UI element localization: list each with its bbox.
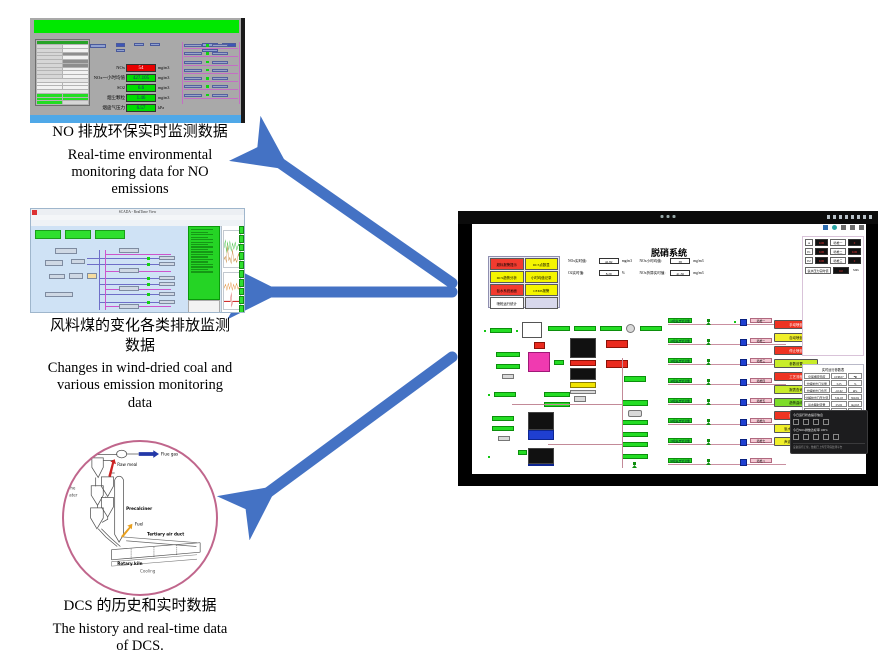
flow-node[interactable] (574, 326, 596, 331)
scada-block (71, 259, 85, 264)
spray-gun-tag[interactable]: 喷枪六 (750, 418, 772, 423)
flow-node[interactable] (518, 450, 527, 455)
strip-button[interactable] (239, 244, 244, 252)
kpi-button[interactable]: 喷枪运行统计 (490, 297, 524, 309)
table-title: 实时运行参数表 (804, 366, 862, 373)
flue-gas-arrow (139, 450, 159, 458)
os-status-bar (458, 211, 878, 224)
fuel-arrow (121, 524, 132, 538)
hmi-footer-bar (30, 115, 241, 123)
param-unit: kPa (848, 387, 862, 393)
readout-value: 38 (670, 258, 690, 264)
caption-zh: NO 排放环保实时监测数据 (25, 124, 255, 142)
tray-icon (845, 215, 849, 219)
kpi-button[interactable]: DCS点数显 (525, 258, 559, 270)
alarm-node[interactable] (606, 360, 628, 368)
panel-row (37, 86, 88, 89)
measurement-value: 1.46 (126, 94, 156, 102)
scada-block (69, 273, 83, 279)
readout-row: O2实时值: 8.29 % NOx折算实时值: 41.36 mg/m3 (568, 270, 708, 276)
caption-zh: DCS 的历史和实时数据 (25, 598, 255, 616)
measurement-label: 烟囱气压力 (92, 104, 125, 114)
caption-dcs-history: DCS 的历史和实时数据 The history and real-time d… (25, 598, 255, 655)
spray-gun-value2: 0 (848, 257, 861, 264)
spray-gun-name: 喷枪一 (830, 239, 846, 246)
spray-gun-value: 0.00 (815, 257, 828, 264)
flow-node[interactable] (548, 326, 570, 331)
param-value: 25.02 (831, 401, 848, 407)
param-value: 3.25 (831, 380, 848, 386)
scada-status-dot (147, 277, 150, 280)
flow-node[interactable] (528, 430, 554, 440)
digital-display (570, 338, 596, 358)
strip-button[interactable] (239, 296, 244, 304)
spray-gun-tag[interactable]: 喷枪八 (750, 458, 772, 463)
status-dot (484, 330, 486, 332)
tank-node (628, 410, 642, 417)
hmi-header-bar (34, 20, 239, 33)
valve-icon[interactable] (706, 359, 711, 365)
flow-node[interactable] (492, 416, 514, 421)
actuator-icon[interactable] (740, 439, 747, 446)
scada-block (119, 286, 139, 291)
kpi-button-grid[interactable]: 超标报警提示 DCS点数显 DCS趋势分析 小时均值记录 氨水系统画面 CEMS… (488, 256, 560, 308)
scada-pipe (105, 254, 171, 255)
scada-green-info-panel (188, 226, 220, 300)
hmi-application-window: 脱硝系统 超标报警提示 DCS点数显 DCS趋势分析 小时均值记录 氨水系统画面… (472, 224, 866, 474)
caption-en-line: Real-time environmental (25, 147, 255, 164)
param-value: -10.02 (831, 387, 848, 393)
kpi-button[interactable]: 超标报警提示 (490, 258, 524, 270)
kiln-label: Flue gas (161, 451, 178, 456)
chart-icon[interactable] (793, 434, 799, 440)
measurement-label: SO2 (92, 84, 125, 94)
actuator-icon[interactable] (740, 319, 747, 326)
spray-gun-key: A (805, 239, 813, 246)
scada-block (45, 260, 63, 266)
globe-icon[interactable] (832, 225, 837, 230)
actuator-icon[interactable] (740, 459, 747, 466)
tray-icon (833, 215, 837, 219)
measurement-value: 427.105 (126, 74, 156, 82)
panel-title-strip (37, 41, 88, 44)
readout-row: NOx实时值: 42.82 mg/m3 NOx小时均值: 38 mg/m3 (568, 258, 708, 264)
caption-en-line: various emission monitoring (25, 377, 255, 394)
kiln-label: Tertiary air duct (147, 532, 184, 537)
table-row: 氨水瞬时流量 25.02 mg/m3 (804, 401, 862, 407)
flow-node[interactable] (496, 364, 520, 369)
readout-value: 42.82 (599, 258, 619, 264)
flow-node[interactable] (492, 426, 514, 431)
mail-icon[interactable] (793, 419, 799, 425)
spray-gun-value2: 0 (848, 239, 861, 246)
flow-node[interactable] (522, 322, 542, 338)
valve-icon[interactable] (706, 419, 711, 425)
panel-row (37, 71, 88, 74)
kiln-label: ater (69, 492, 78, 497)
kpi-button[interactable] (525, 297, 559, 309)
strip-button[interactable] (239, 261, 244, 269)
poster-canvas: NOx NOx一小时均值 SO2 烟尘颗粒 烟囱气压力 54 427.105 6… (0, 0, 886, 664)
scada-status-dot (147, 301, 150, 304)
param-name: 氨水瞬时流量 (804, 401, 830, 407)
valve-icon[interactable] (706, 379, 711, 385)
scada-block (119, 304, 139, 309)
param-name: 分解炉出口负压 (804, 387, 830, 393)
notification-line-2: 今日NOx排放达标率 100% (793, 428, 865, 432)
spray-gun-tag[interactable]: 喷枪四 (750, 378, 772, 383)
measurement-unit: mg/m3 (158, 84, 180, 94)
panel-row (37, 60, 88, 63)
scada-diagram-canvas (31, 226, 188, 313)
kpi-button[interactable]: 小时均值记录 (525, 271, 559, 283)
shield-icon[interactable] (833, 434, 839, 440)
document-icon[interactable] (813, 419, 819, 425)
panel-row (37, 49, 88, 52)
param-name: 分解炉出口压力温度 (804, 394, 830, 400)
kiln-svg: Flue gas Raw meal Precalciner Fuel Terti… (64, 442, 216, 594)
scada-block (45, 292, 73, 297)
hmi-right-edge (242, 18, 245, 123)
panel-row (37, 64, 88, 67)
panel-row (37, 45, 88, 48)
spray-gun-key: P2 (805, 257, 813, 264)
readout-value: 8.29 (599, 270, 619, 276)
digital-display (570, 368, 596, 380)
spray-gun-name: 喷枪二 (830, 248, 846, 255)
maximize-icon[interactable] (850, 225, 855, 230)
flow-node[interactable] (554, 360, 564, 365)
measurement-label: 烟尘颗粒 (92, 94, 125, 104)
param-value: 534.18 (831, 394, 848, 400)
strip-button[interactable] (239, 252, 244, 260)
kpi-button[interactable]: 氨水系统画面 (490, 284, 524, 296)
panel-row-wide (37, 79, 88, 82)
user-icon[interactable] (803, 419, 809, 425)
spray-gun-tag[interactable]: 喷枪二 (750, 338, 772, 343)
close-icon[interactable] (859, 225, 864, 230)
readout-label: NOx小时均值: (640, 259, 668, 264)
measurement-value: 54 (126, 64, 156, 72)
injection-flow-label[interactable]: 1#喷氨支管流量 (668, 318, 692, 323)
flow-node[interactable] (600, 326, 622, 331)
scada-block (119, 268, 139, 273)
ammonia-pressure-row: 氨水压力实时值 0.0 MPa (805, 267, 861, 274)
alarm-node[interactable] (606, 340, 628, 348)
strip-button[interactable] (239, 279, 244, 287)
spray-gun-row: P2 0.00 喷枪三 0 (805, 257, 861, 264)
close-icon[interactable] (32, 210, 37, 215)
strip-button[interactable] (239, 270, 244, 278)
pump-icon (626, 324, 635, 333)
actuator-icon[interactable] (740, 359, 747, 366)
gear-icon[interactable] (803, 434, 809, 440)
app-icon[interactable] (823, 225, 828, 230)
status-dot (488, 394, 490, 396)
panel-row (37, 83, 88, 86)
panel-button-row[interactable] (37, 94, 88, 97)
flow-node[interactable] (640, 326, 662, 331)
injection-flow-label[interactable]: 8#喷氨支管流量 (668, 458, 692, 463)
flow-node[interactable] (622, 420, 648, 425)
injection-flow-label[interactable]: 3#喷氨支管流量 (668, 358, 692, 363)
folder-icon[interactable] (823, 434, 829, 440)
minimize-icon[interactable] (841, 225, 846, 230)
readout-unit: mg/m3 (622, 259, 637, 263)
param-name: 窑尾烟室温度 (804, 373, 830, 379)
injection-flow-label[interactable]: 5#喷氨支管流量 (668, 398, 692, 403)
scada-block-highlight (87, 273, 97, 279)
fan-node[interactable] (528, 352, 550, 372)
status-dot (516, 330, 518, 332)
flow-node[interactable] (622, 432, 648, 437)
readout-unit: mg/m3 (693, 271, 708, 275)
tray-icon (869, 215, 873, 219)
scada-pipe (105, 250, 106, 310)
table-row: 分解炉出口负压 -10.02 kPa (804, 387, 862, 393)
measurement-unit: mg/m3 (158, 94, 180, 104)
panel-button-row[interactable] (37, 101, 88, 104)
readout-value: 41.36 (670, 270, 690, 276)
os-status-right-icons (827, 215, 873, 219)
clock-icon[interactable] (823, 419, 829, 425)
measurement-label: NOx一小时均值 (92, 74, 125, 84)
readout-label: O2实时值: (568, 271, 596, 276)
bell-icon[interactable] (813, 434, 819, 440)
caption-en-line: data (25, 395, 255, 412)
alarm-node[interactable] (570, 360, 596, 366)
spray-gun-value: 0.00 (815, 248, 828, 255)
tray-icon (839, 215, 843, 219)
table-row: 分解炉出口氧量 3.25 % (804, 380, 862, 386)
panel-row (37, 53, 88, 56)
panel-row (37, 56, 88, 59)
readout-unit: mg/m3 (693, 259, 708, 263)
process-pipe (622, 358, 623, 468)
readout-label: NOx实时值: (568, 259, 596, 264)
scada-block (159, 292, 175, 296)
valve-icon[interactable] (706, 459, 711, 465)
battery-icon (673, 215, 676, 218)
kpi-button[interactable]: CEMS报警 (525, 284, 559, 296)
valve-icon[interactable] (632, 462, 637, 468)
actuator-icon[interactable] (740, 419, 747, 426)
scada-block (159, 262, 175, 266)
notification-line-1: 今日运行状态提示信息 (793, 413, 865, 417)
strip-button[interactable] (239, 235, 244, 243)
spray-gun-tag[interactable]: 喷枪七 (750, 438, 772, 443)
strip-button[interactable] (239, 226, 244, 234)
valve-icon[interactable] (706, 339, 711, 345)
scada-white-info-panel (188, 300, 220, 313)
scada-block (55, 248, 77, 254)
status-dot (488, 456, 490, 458)
measurement-value: 6.57 (126, 104, 156, 112)
window-controls[interactable] (823, 225, 864, 230)
param-unit: mg/m3 (848, 401, 862, 407)
flow-node[interactable] (544, 392, 570, 397)
caption-coal-changes: 风料煤的变化各类排放监测 数据 Changes in wind-dried co… (25, 318, 255, 412)
flow-node[interactable] (622, 454, 648, 459)
panel-row (37, 68, 88, 71)
scada-block (159, 282, 175, 286)
raw-meal-arrow (108, 459, 116, 477)
measurement-unit: mg/m3 (158, 74, 180, 84)
tray-icon (851, 215, 855, 219)
param-name: 分解炉出口氧量 (804, 380, 830, 386)
flow-node[interactable] (494, 392, 516, 397)
kiln-label: Precalciner (126, 506, 153, 511)
spray-gun-row: A 0.00 喷枪一 0 (805, 239, 861, 246)
scada-block (119, 248, 139, 253)
panel-row-wide (37, 90, 88, 93)
scada-status-dot (147, 293, 150, 296)
digital-display (528, 412, 554, 430)
scada-block (159, 276, 175, 280)
signal-icon (661, 215, 664, 218)
process-pipe (548, 444, 622, 445)
scada-block (159, 256, 175, 260)
scada-green-button[interactable] (65, 230, 91, 239)
flow-node[interactable] (624, 376, 646, 382)
valve-icon[interactable] (706, 439, 711, 445)
panel-row (37, 75, 88, 78)
notification-popup[interactable]: 今日运行状态提示信息 今日NOx排放达标率 100% 设备运行正常，数据已上传至… (790, 410, 868, 454)
readout-group: NOx实时值: 42.82 mg/m3 NOx小时均值: 38 mg/m3 O2… (568, 258, 708, 282)
measurement-label: NOx (92, 64, 125, 74)
spray-gun-row: P1 0.00 喷枪二 0.00 (805, 248, 861, 255)
kiln-label: Cooling (140, 568, 156, 573)
caption-en-line: Changes in wind-dried coal and (25, 360, 255, 377)
param-value: 1038.07 (831, 373, 848, 379)
thumbnail-kiln-diagram[interactable]: Flue gas Raw meal Precalciner Fuel Terti… (62, 440, 218, 596)
digital-display (528, 448, 554, 464)
ammonia-pressure-unit: MPa (851, 267, 861, 274)
param-unit: ℃ (848, 373, 862, 379)
flow-node[interactable] (490, 328, 512, 333)
scada-status-dot (147, 257, 150, 260)
spray-gun-value: 0.00 (815, 239, 828, 246)
injection-flow-label[interactable]: 4#喷氨支管流量 (668, 378, 692, 383)
flow-node[interactable] (622, 442, 648, 447)
tray-icon (827, 215, 831, 219)
param-unit: % (848, 380, 862, 386)
readout-label: NOx折算实时值: (640, 271, 668, 276)
hmi-network-grid (182, 42, 240, 104)
alarm-node[interactable] (534, 342, 545, 349)
flow-node[interactable] (574, 396, 586, 402)
notification-footer: 设备运行正常，数据已上传至环保监测平台 (793, 443, 865, 449)
actuator-icon[interactable] (740, 399, 747, 406)
spray-gun-tag[interactable]: 喷枪一 (750, 318, 772, 323)
panel-button-row[interactable] (37, 98, 88, 101)
strip-button[interactable] (239, 305, 244, 313)
caption-en-line: of DCS. (25, 638, 255, 655)
ammonia-pressure-value: 0.0 (833, 267, 849, 274)
injection-flow-label[interactable]: 6#喷氨支管流量 (668, 418, 692, 423)
table-row: 窑尾烟室温度 1038.07 ℃ (804, 373, 862, 379)
flow-node (528, 464, 554, 466)
kiln-label: Raw meal (117, 462, 137, 467)
measurement-units: mg/m3 mg/m3 mg/m3 mg/m3 kPa (158, 64, 180, 114)
wifi-icon (667, 215, 670, 218)
valve-icon[interactable] (706, 319, 711, 325)
scada-green-button[interactable] (95, 230, 125, 239)
thumbnail-scada-window[interactable]: SCADA - RealTime View (30, 208, 245, 313)
caption-en-line: The history and real-time data (25, 621, 255, 638)
injection-flow-label[interactable]: 2#喷氨支管流量 (668, 338, 692, 343)
readout-unit: % (622, 271, 637, 275)
tray-icon (857, 215, 861, 219)
flow-node[interactable] (496, 352, 520, 357)
kiln-label: he (70, 486, 76, 491)
scada-green-button[interactable] (35, 230, 61, 239)
valve-icon[interactable] (706, 399, 711, 405)
kpi-button[interactable]: DCS趋势分析 (490, 271, 524, 283)
notification-icon-row-2[interactable] (793, 434, 865, 440)
scada-status-dot (147, 283, 150, 286)
actuator-icon[interactable] (740, 339, 747, 346)
scada-block (49, 274, 65, 279)
injection-row-group: 1#喷氨支管流量 喷枪一 2#喷氨支管流量 喷枪二 3#喷氨支管流量 喷枪三 4… (668, 316, 788, 466)
scada-block (159, 300, 175, 304)
flow-node[interactable] (502, 374, 514, 379)
ammonia-pressure-label: 氨水压力实时值 (805, 267, 831, 274)
param-unit: Nm3/h (848, 394, 862, 400)
strip-button[interactable] (239, 288, 244, 296)
hmi-left-parameter-panel (35, 39, 90, 106)
notification-icon-row[interactable] (793, 419, 865, 425)
actuator-icon[interactable] (740, 379, 747, 386)
thumbnail-nox-hmi[interactable]: NOx NOx一小时均值 SO2 烟尘颗粒 烟囱气压力 54 427.105 6… (30, 18, 245, 123)
measurement-unit: kPa (158, 104, 180, 114)
flow-node[interactable] (622, 400, 648, 406)
spray-gun-status-panel: A 0.00 喷枪一 0 P1 0.00 喷枪二 0.00 P2 0.00 喷枪… (802, 236, 864, 356)
os-status-center-icons (661, 215, 676, 218)
caption-zh-line: 风料煤的变化各类排放监测 (25, 318, 255, 336)
table-row: 分解炉出口压力温度 534.18 Nm3/h (804, 394, 862, 400)
scada-status-dot (147, 263, 150, 266)
flow-node (570, 390, 596, 394)
spray-gun-tag[interactable]: 喷枪三 (750, 358, 772, 363)
measurement-values: 54 427.105 6.6 1.46 6.57 (126, 64, 156, 114)
tray-icon (863, 215, 867, 219)
flow-node[interactable] (570, 382, 596, 388)
kiln-label: Rotary kiln (117, 561, 142, 566)
kiln-label: Fuel (135, 522, 143, 527)
caption-no-emissions: NO 排放环保实时监测数据 Real-time environmental mo… (25, 124, 255, 198)
measurement-labels: NOx NOx一小时均值 SO2 烟尘颗粒 烟囱气压力 (92, 64, 125, 114)
caption-zh-line: 数据 (25, 338, 255, 356)
caption-en-line: emissions (25, 181, 255, 198)
process-pipe (512, 404, 622, 405)
measurement-unit: mg/m3 (158, 64, 180, 74)
status-dot (734, 321, 736, 323)
caption-en-line: monitoring data for NO (25, 164, 255, 181)
thumbnail-denitrification-screenshot[interactable]: 脱硝系统 超标报警提示 DCS点数显 DCS趋势分析 小时均值记录 氨水系统画面… (458, 211, 878, 486)
flow-node[interactable] (498, 436, 510, 441)
measurement-value: 6.6 (126, 84, 156, 92)
spray-gun-key: P1 (805, 248, 813, 255)
scada-right-button-strip[interactable] (239, 226, 244, 313)
injection-flow-label[interactable]: 7#喷氨支管流量 (668, 438, 692, 443)
spray-gun-tag[interactable]: 喷枪五 (750, 398, 772, 403)
spray-gun-value2: 0.00 (848, 248, 861, 255)
spray-gun-name: 喷枪三 (830, 257, 846, 264)
